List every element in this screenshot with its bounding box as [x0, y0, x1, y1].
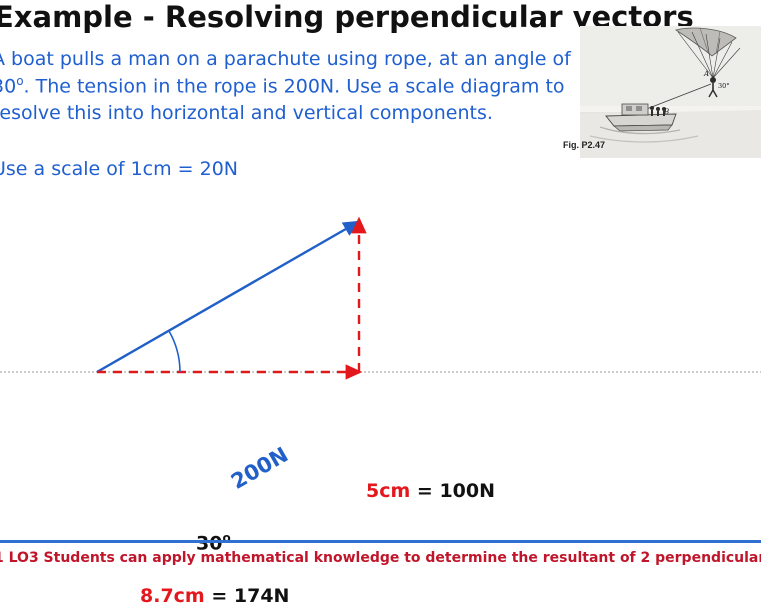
angle-value-text: 30 [0, 75, 16, 97]
svg-text:30°: 30° [718, 82, 730, 90]
footer-divider [0, 540, 761, 543]
textbook-figure-image: A B 30° [580, 26, 761, 158]
resultant-label: 200N [227, 443, 292, 494]
figure-caption: Fig. P2.47 [563, 140, 605, 150]
horizontal-component-cm: 8.7cm [140, 585, 205, 607]
body-line-2: 30o. The tension in the rope is 200N. Us… [0, 73, 592, 100]
resultant-vector-arrow [97, 222, 358, 372]
horizontal-component-label: 8.7cm = 174N [140, 585, 289, 607]
vector-diagram: 200N 30o 5cm = 100N 8.7cm = 174N [0, 195, 761, 435]
slide-canvas: Example - Resolving perpendicular vector… [0, 0, 761, 571]
footer-objective-text: 1 LO3 Students can apply mathematical kn… [0, 550, 761, 566]
body-line-1: A boat pulls a man on a parachute using … [0, 46, 592, 73]
vertical-component-cm: 5cm [366, 480, 410, 502]
horizontal-component-newtons: = 174N [211, 585, 289, 607]
body-line-3: resolve this into horizontal and vertica… [0, 100, 592, 127]
body-line-2-rest: . The tension in the rope is 200N. Use a… [24, 75, 565, 97]
body-paragraph: A boat pulls a man on a parachute using … [0, 46, 592, 127]
angle-arc [169, 331, 180, 372]
vertical-component-label: 5cm = 100N [366, 480, 495, 502]
degree-superscript: o [16, 74, 23, 88]
svg-text:A: A [703, 70, 709, 78]
vertical-component-newtons: = 100N [417, 480, 495, 502]
scale-note: Use a scale of 1cm = 20N [0, 158, 238, 180]
